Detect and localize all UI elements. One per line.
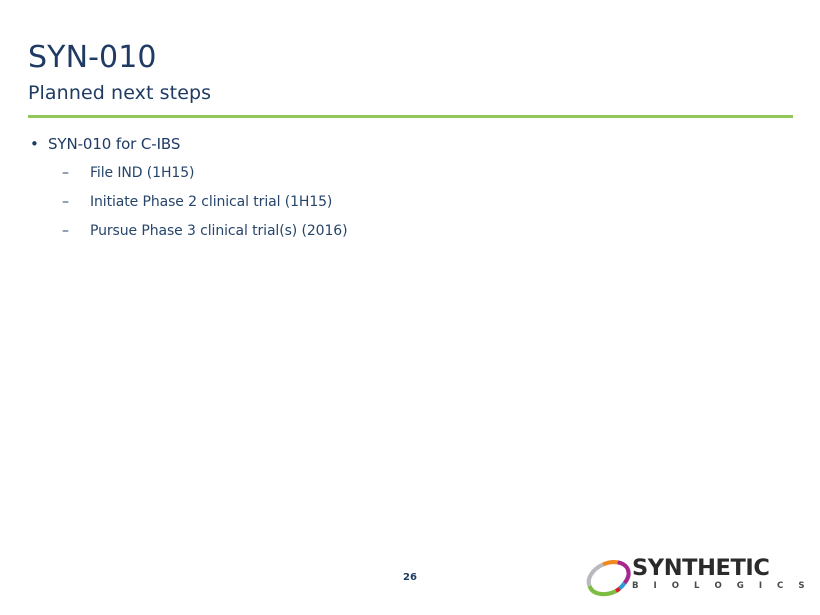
slide-canvas: SYN-010 Planned next steps • SYN-010 for…	[0, 0, 820, 615]
logo-subword: B I O L O G I C S	[632, 581, 795, 592]
content-bullet-list: • SYN-010 for C-IBS – File IND (1H15) – …	[28, 133, 768, 250]
list-item-label: Initiate Phase 2 clinical trial (1H15)	[90, 194, 332, 210]
sub-bullet-list: – File IND (1H15) – Initiate Phase 2 cli…	[28, 163, 768, 242]
logo-text-block: SYNTHETIC B I O L O G I C S	[632, 556, 795, 592]
page-subtitle: Planned next steps	[28, 81, 788, 105]
bullet-dash-icon: –	[62, 221, 69, 242]
logo-wordmark: SYNTHETIC	[632, 556, 795, 580]
list-item: – Initiate Phase 2 clinical trial (1H15)	[28, 192, 768, 213]
title-block: SYN-010 Planned next steps	[28, 41, 788, 105]
list-item-label: Pursue Phase 3 clinical trial(s) (2016)	[90, 223, 347, 239]
list-item: – Pursue Phase 3 clinical trial(s) (2016…	[28, 221, 768, 242]
list-item: • SYN-010 for C-IBS	[28, 133, 768, 155]
list-item: – File IND (1H15)	[28, 163, 768, 184]
synthetic-biologics-ring-icon	[583, 558, 635, 598]
list-item-label: SYN-010 for C-IBS	[48, 135, 180, 153]
bullet-dash-icon: –	[62, 192, 69, 213]
title-divider-rule	[28, 115, 793, 118]
bullet-dash-icon: –	[62, 163, 69, 184]
list-item-label: File IND (1H15)	[90, 165, 194, 181]
company-logo: SYNTHETIC B I O L O G I C S	[583, 556, 795, 602]
bullet-dot-icon: •	[30, 133, 39, 155]
page-title: SYN-010	[28, 41, 788, 75]
